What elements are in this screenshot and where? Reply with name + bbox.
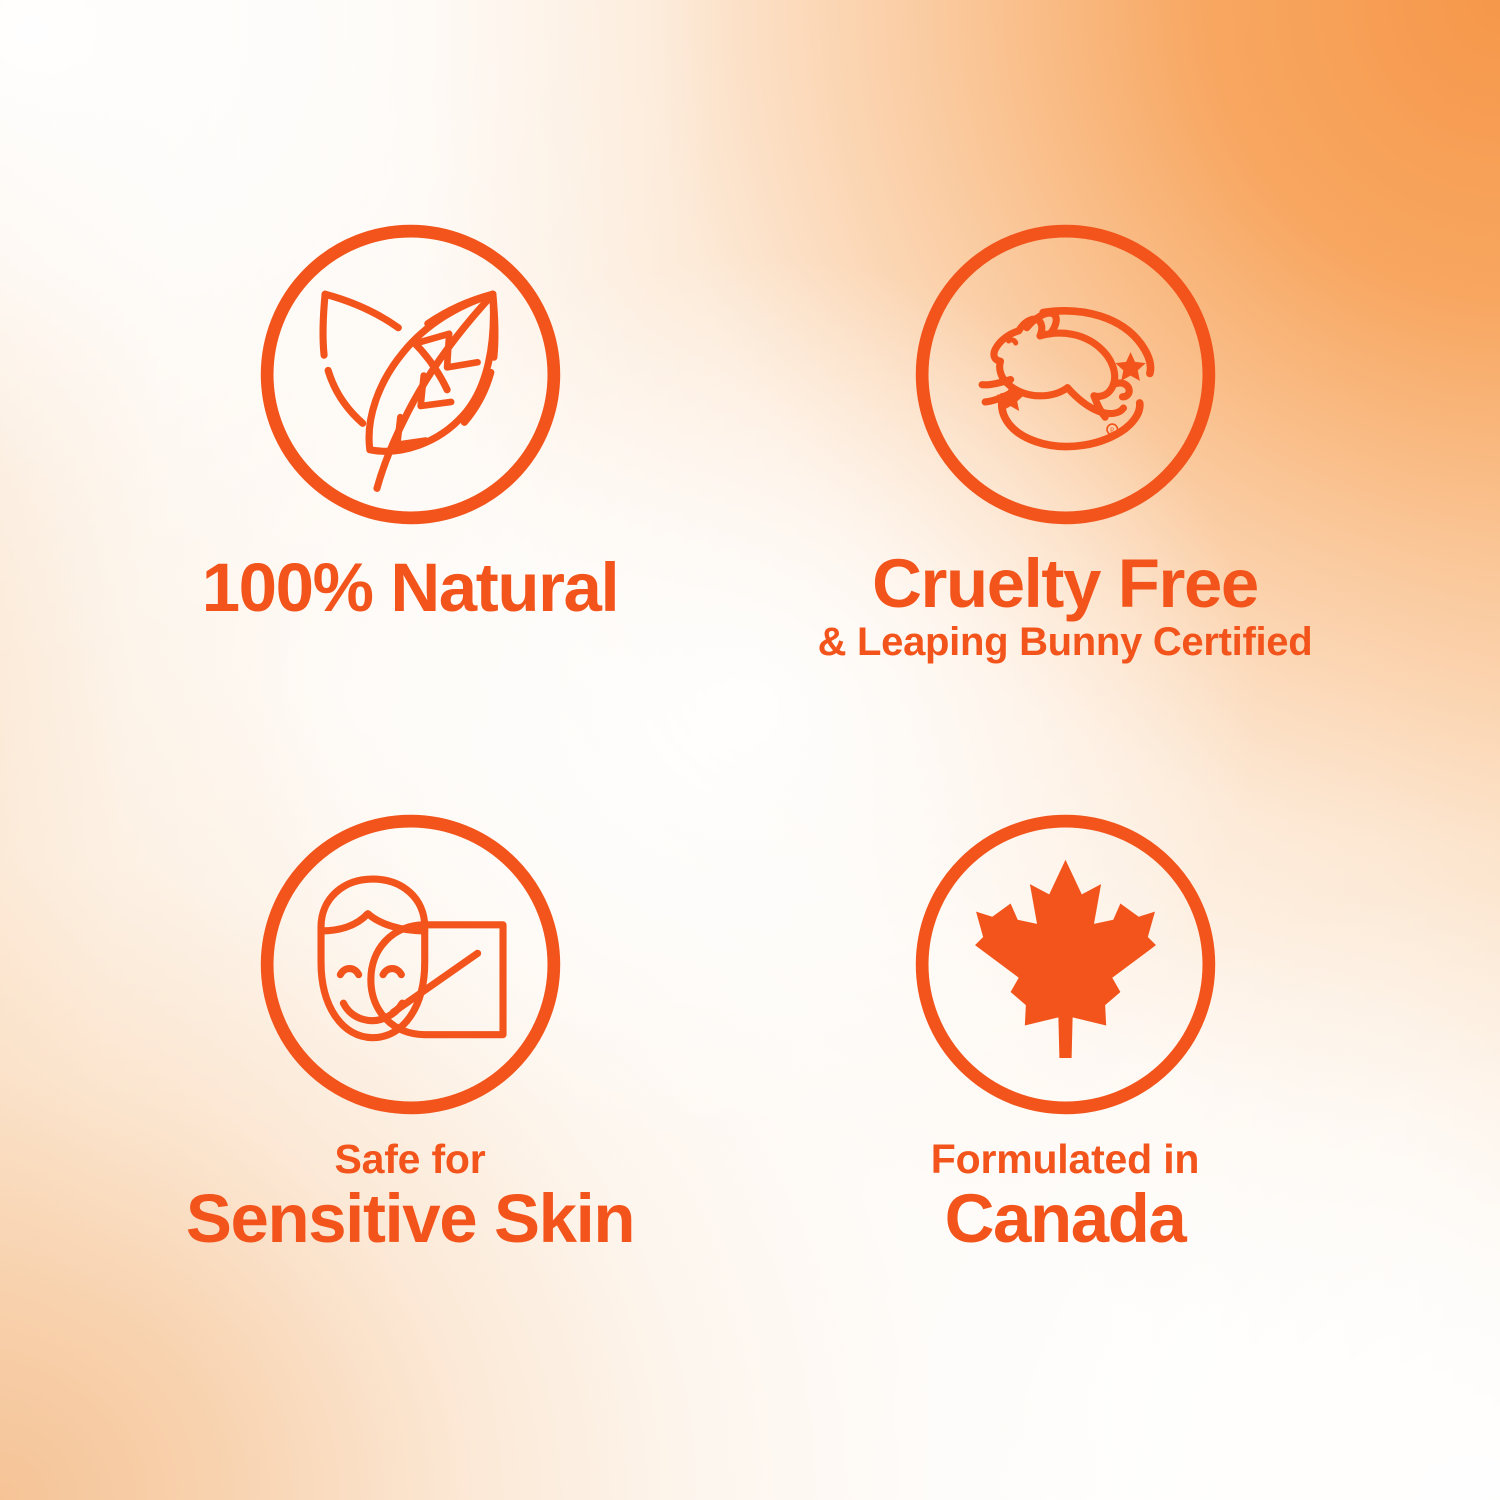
maple-leaf-icon: [913, 812, 1218, 1117]
badge-sensitive-skin: Safe for Sensitive Skin: [105, 812, 715, 1253]
badge-cruelty-free-title: Cruelty Free: [818, 549, 1313, 618]
smiling-face-leaf-icon: [258, 812, 563, 1117]
badge-natural-title: 100% Natural: [202, 553, 619, 622]
badge-cruelty-free-subtitle: & Leaping Bunny Certified: [818, 622, 1313, 662]
leaping-bunny-icon: R: [913, 222, 1218, 527]
badge-sensitive-skin-eyebrow: Safe for: [186, 1139, 634, 1180]
badge-natural: 100% Natural: [105, 222, 715, 622]
badge-formulated-canada-title: Canada: [931, 1184, 1199, 1253]
svg-text:R: R: [1109, 426, 1114, 434]
badge-formulated-canada: Formulated in Canada: [760, 812, 1370, 1253]
badge-formulated-canada-labels: Formulated in Canada: [931, 1139, 1199, 1253]
badge-grid: 100% Natural: [0, 0, 1500, 1500]
badge-formulated-canada-eyebrow: Formulated in: [931, 1139, 1199, 1180]
leaf-icon: [258, 222, 563, 527]
badge-natural-labels: 100% Natural: [202, 553, 619, 622]
badge-panel: 100% Natural: [0, 0, 1500, 1500]
badge-sensitive-skin-title: Sensitive Skin: [186, 1184, 634, 1253]
badge-sensitive-skin-labels: Safe for Sensitive Skin: [186, 1139, 634, 1253]
badge-cruelty-free-labels: Cruelty Free & Leaping Bunny Certified: [818, 549, 1313, 662]
badge-cruelty-free: R Cruelty Free & Leaping Bunny Certified: [760, 222, 1370, 662]
